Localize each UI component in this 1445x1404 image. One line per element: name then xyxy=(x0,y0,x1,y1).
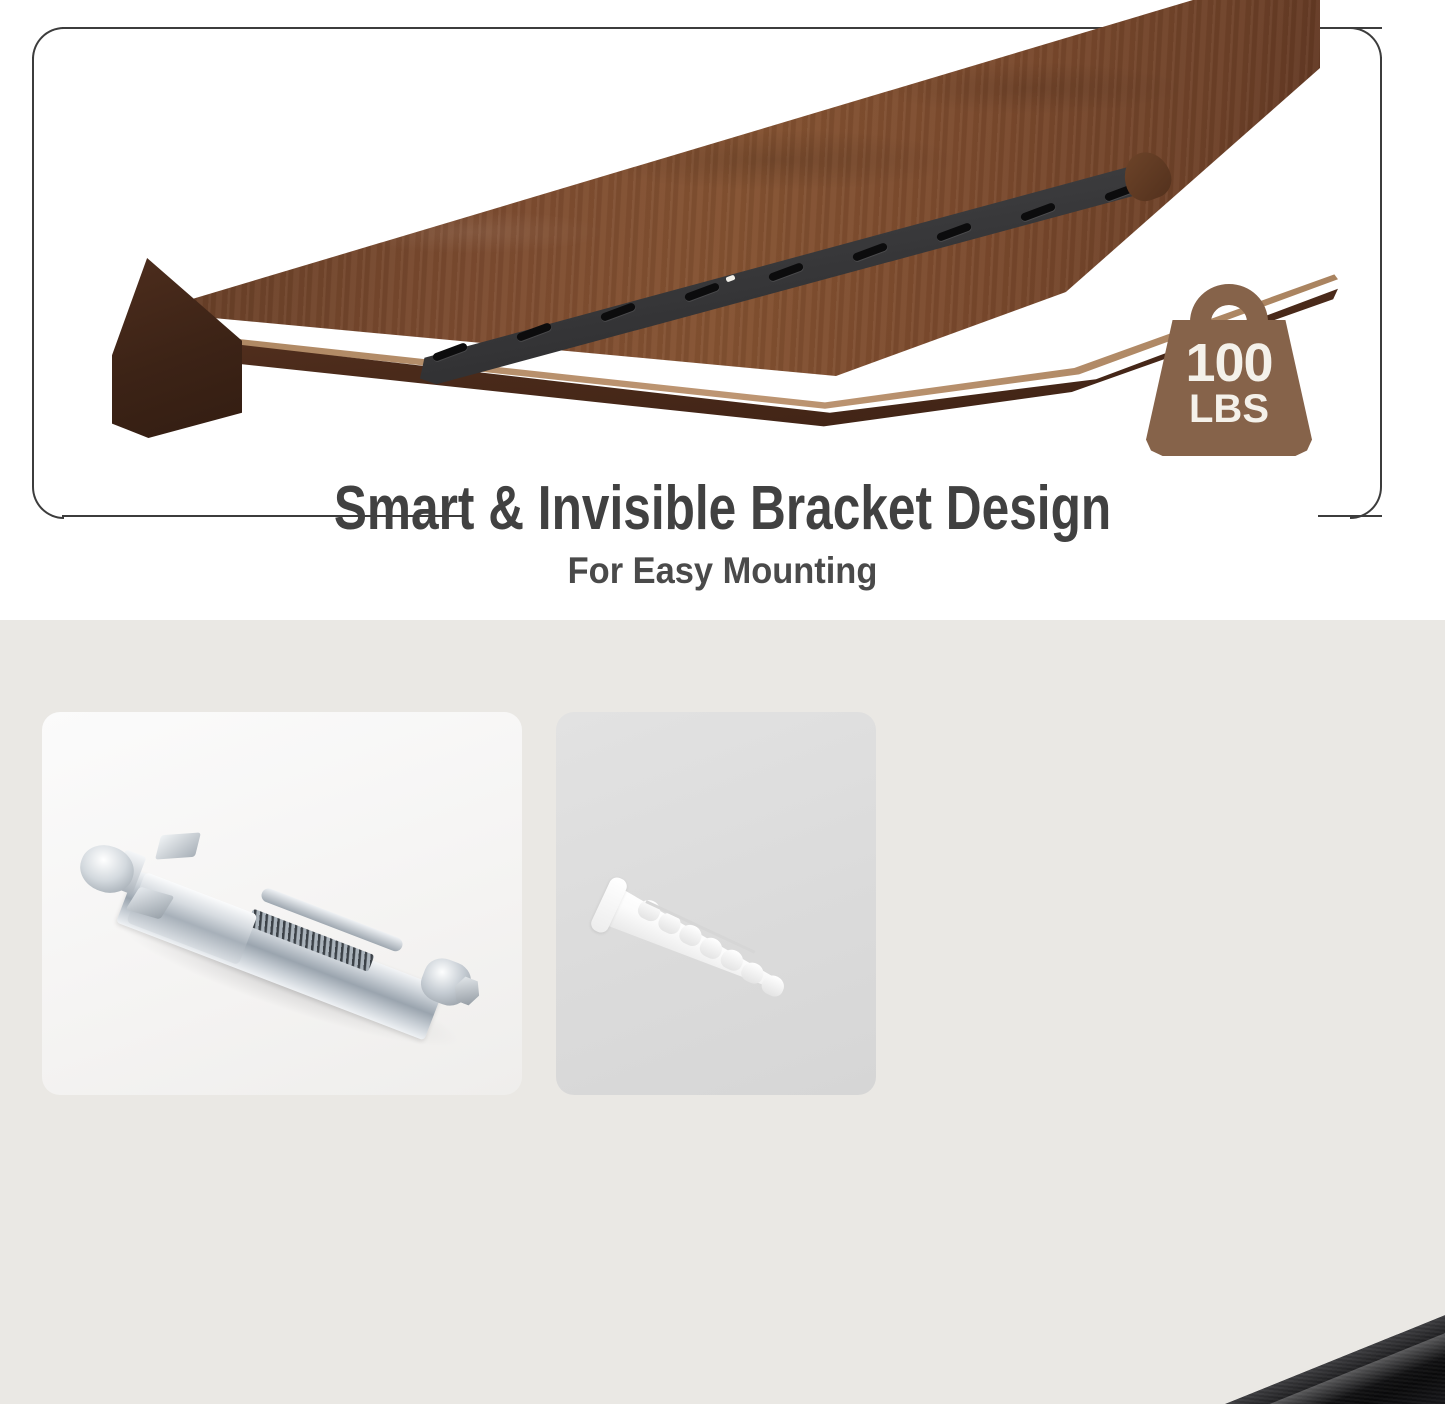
frame-corner-bottom-left xyxy=(32,487,64,519)
page-subtitle: For Easy Mounting xyxy=(51,550,1395,592)
weight-value: 100 xyxy=(1146,338,1312,390)
materials-section: Upgrade Metal Anchors heavy-duty Made of… xyxy=(0,620,1445,1404)
weight-capacity-badge: 100 LBS xyxy=(1134,276,1324,456)
plug-ribs xyxy=(616,884,796,1002)
page-title: Smart & Invisible Bracket Design xyxy=(145,478,1301,540)
shelf-end-face xyxy=(112,258,242,438)
metal-anchor-photo xyxy=(70,800,490,1030)
iron-pipe-photo xyxy=(830,1320,1445,1404)
smart-bracket-section: 100 LBS Smart & Invisible Bracket Design… xyxy=(0,0,1445,620)
weight-unit: LBS xyxy=(1146,390,1312,428)
plastic-wall-plug-photo xyxy=(600,852,850,992)
anchor-wing-upper xyxy=(155,832,201,859)
weight-label: 100 LBS xyxy=(1146,338,1312,428)
